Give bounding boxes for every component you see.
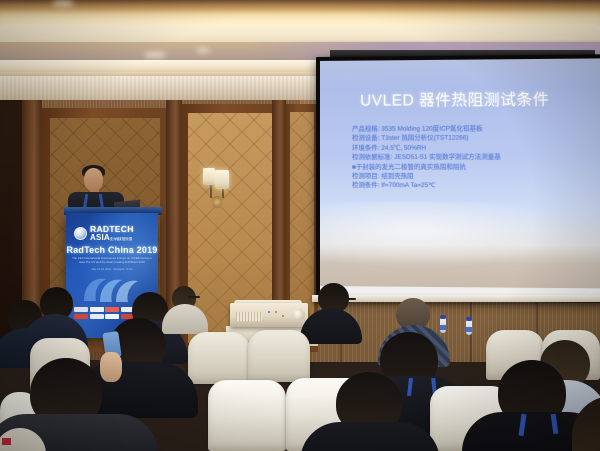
- slide-line: 检测设备: T3ster 热阻分析仪(TST12266): [352, 134, 577, 144]
- sponsor-logo: [105, 307, 119, 312]
- projector-vent: [236, 312, 262, 321]
- sponsor-logo: [105, 314, 119, 319]
- sponsor-logo: [74, 307, 88, 312]
- slide-line: 环境条件: 24.5℃, 50%RH: [352, 143, 577, 153]
- chair: [188, 332, 250, 384]
- ceiling-downlight-icon: [196, 48, 210, 53]
- lapel-flag-icon: [2, 438, 11, 445]
- radtech-seal-icon: [74, 227, 87, 240]
- conference-room-photo: UVLED 器件热阻测试条件 产品规格: 3535 Molding 120度IC…: [0, 0, 600, 451]
- water-bottle-label: [440, 325, 446, 330]
- slide-title: UVLED 器件热阻测试条件: [360, 87, 574, 111]
- screen-light-sheen: [320, 202, 600, 275]
- attendee-shoulders: [300, 422, 440, 451]
- event-date: May 21-23, 2019 · Shanghai, China: [72, 268, 152, 271]
- sponsor-logo: [90, 314, 104, 319]
- glasses-icon: [188, 296, 200, 298]
- slide-line: 检测依据标准: JESD51-51 实现数学测试方法测量基: [352, 153, 577, 163]
- event-title: RadTech China 2019: [66, 245, 158, 255]
- wordmark-line-2: ASIA亚洲辐射固化展: [90, 234, 134, 242]
- radtech-wordmark: RADTECH ASIA亚洲辐射固化展: [90, 225, 134, 242]
- projector-indicator-icon: [268, 311, 270, 313]
- glasses-icon: [342, 298, 356, 300]
- ceiling-downlight-icon: [52, 0, 74, 7]
- water-bottle-cap: [466, 317, 472, 321]
- slide-line: 检测项目: 结到壳热阻: [352, 172, 577, 182]
- projector-button-icon: [275, 311, 277, 313]
- event-subtitle: The 19th International Conference & Expo…: [72, 256, 152, 264]
- water-bottle-label: [466, 327, 472, 332]
- projection-screen: UVLED 器件热阻测试条件 产品规格: 3535 Molding 120度IC…: [316, 54, 600, 302]
- sponsor-logo: [90, 307, 104, 312]
- radtech-logo: RADTECH ASIA亚洲辐射固化展: [74, 225, 150, 242]
- wordmark-subtext: 亚洲辐射固化展: [110, 237, 132, 241]
- projector-lens-icon: [292, 309, 305, 321]
- sponsor-logo: [74, 314, 88, 319]
- ceiling-downlight-icon: [144, 52, 166, 58]
- chair: [208, 380, 286, 451]
- attendee-hand: [100, 352, 122, 382]
- wordmark-asia: ASIA: [90, 233, 110, 242]
- projector-button-icon: [282, 315, 284, 317]
- water-bottle-cap: [440, 315, 446, 319]
- slide-line: ■于封装的发光二极管的真实热阻和阻抗: [352, 162, 577, 172]
- chair: [248, 330, 310, 382]
- slide-surface: UVLED 器件热阻测试条件 产品规格: 3535 Molding 120度IC…: [320, 58, 600, 298]
- slide-line: 检测条件: If=700mA Ta=25℃: [352, 181, 577, 191]
- sconce-shade-icon: [203, 168, 215, 185]
- sconce-shade-icon: [215, 170, 229, 189]
- sconce-base: [212, 196, 222, 208]
- slide-body: 产品规格: 3535 Molding 120度ICP氮化铝基板 检测设备: T3…: [352, 124, 577, 191]
